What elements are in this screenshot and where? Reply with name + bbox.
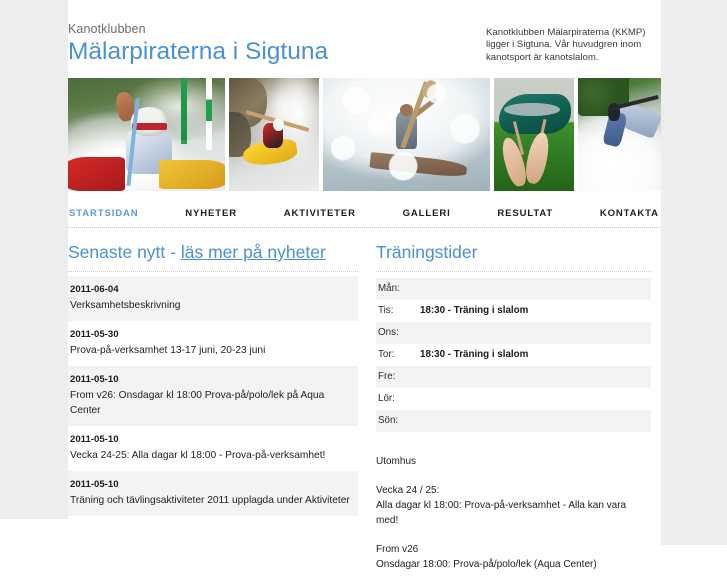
brand-subtitle: Kanotklubben	[68, 22, 328, 36]
news-list-item[interactable]: 2011-05-10 Vecka 24-25: Alla dagar kl 18…	[68, 426, 358, 471]
table-row: Mån:	[376, 278, 651, 300]
news-date: 2011-05-30	[70, 328, 352, 341]
table-row: Sön:	[376, 410, 651, 432]
training-day: Tis:	[376, 300, 418, 322]
news-title[interactable]: Verksamhetsbeskrivning	[70, 298, 352, 313]
news-list-item[interactable]: 2011-05-30 Prova-på-verksamhet 13-17 jun…	[68, 321, 358, 366]
news-list-item[interactable]: 2011-05-10 From v26: Onsdagar kl 18:00 P…	[68, 366, 358, 426]
training-value	[418, 388, 651, 410]
table-row: Ons:	[376, 322, 651, 344]
banner-photo-sprint-paddler	[323, 78, 490, 191]
banner-photo-strip	[68, 78, 661, 195]
training-value	[418, 410, 651, 432]
table-row: Lör:	[376, 388, 651, 410]
training-day: Fre:	[376, 366, 418, 388]
news-title[interactable]: Prova-på-verksamhet 13-17 juni, 20-23 ju…	[70, 343, 352, 358]
training-day: Lör:	[376, 388, 418, 410]
main-navigation: STARTSIDAN NYHETER AKTIVITETER GALLERI R…	[68, 200, 661, 228]
news-list: 2011-06-04 Verksamhetsbeskrivning 2011-0…	[68, 276, 358, 516]
site-brand[interactable]: Kanotklubben Mälarpiraterna i Sigtuna	[68, 22, 328, 67]
training-day: Tor:	[376, 344, 418, 366]
banner-photo-waterfall-drop	[578, 78, 661, 191]
news-date: 2011-05-10	[70, 433, 352, 446]
news-list-item[interactable]: 2011-05-10 Träning och tävlingsaktivitet…	[68, 471, 358, 516]
backdrop-right-gutter	[661, 0, 727, 545]
training-value: 18:30 - Träning i slalom	[418, 344, 651, 366]
nav-item-galleri[interactable]: GALLERI	[403, 208, 451, 219]
table-row: Tor: 18:30 - Träning i slalom	[376, 344, 651, 366]
content-columns: Senaste nytt - läs mer på nyheter 2011-0…	[68, 242, 661, 586]
training-value	[418, 278, 651, 300]
training-day: Mån:	[376, 278, 418, 300]
training-schedule-table: Mån: Tis: 18:30 - Träning i slalom Ons: …	[376, 278, 651, 432]
site-description: Kanotklubben Mälarpiraterna (KKMP) ligge…	[486, 27, 666, 64]
news-date: 2011-05-10	[70, 478, 352, 491]
outdoor-block2-line1: From v26	[376, 542, 651, 557]
outdoor-title: Utomhus	[376, 454, 651, 469]
outdoor-info: Utomhus Vecka 24 / 25: Alla dagar kl 18:…	[376, 454, 651, 572]
table-row: Tis: 18:30 - Träning i slalom	[376, 300, 651, 322]
nav-item-resultat[interactable]: RESULTAT	[497, 208, 553, 219]
news-heading-text: Senaste nytt -	[68, 242, 181, 262]
outdoor-block1-line1: Vecka 24 / 25:	[376, 483, 651, 498]
page-container: Kanotklubben Mälarpiraterna i Sigtuna Ka…	[68, 0, 661, 545]
training-value	[418, 366, 651, 388]
training-value	[418, 322, 651, 344]
news-title[interactable]: Vecka 24-25: Alla dagar kl 18:00 - Prova…	[70, 448, 352, 463]
brand-title: Mälarpiraterna i Sigtuna	[68, 37, 328, 67]
nav-item-aktiviteter[interactable]: AKTIVITETER	[284, 208, 356, 219]
table-row: Fre:	[376, 366, 651, 388]
training-column: Träningstider Mån: Tis: 18:30 - Träning …	[368, 242, 651, 586]
news-heading: Senaste nytt - läs mer på nyheter	[68, 242, 358, 272]
news-date: 2011-06-04	[70, 283, 352, 296]
training-day: Ons:	[376, 322, 418, 344]
nav-item-startsidan[interactable]: STARTSIDAN	[69, 208, 139, 219]
news-title[interactable]: Träning och tävlingsaktiviteter 2011 upp…	[70, 493, 352, 508]
training-heading: Träningstider	[376, 242, 651, 272]
banner-photo-yellow-kayak	[229, 78, 319, 191]
backdrop-bottom-left-white	[0, 519, 68, 545]
news-title[interactable]: From v26: Onsdagar kl 18:00 Prova-på/pol…	[70, 388, 352, 418]
nav-item-kontakta[interactable]: KONTAKTA	[600, 208, 659, 219]
training-value: 18:30 - Träning i slalom	[418, 300, 651, 322]
outdoor-block1-line2: Alla dagar kl 18:00: Prova-på-verksamhet…	[376, 498, 651, 528]
banner-photo-slalom-kayaker	[68, 78, 225, 191]
news-column: Senaste nytt - läs mer på nyheter 2011-0…	[68, 242, 368, 586]
banner-photo-canoe-and-paddles	[494, 78, 574, 191]
news-list-item[interactable]: 2011-06-04 Verksamhetsbeskrivning	[68, 276, 358, 321]
site-header: Kanotklubben Mälarpiraterna i Sigtuna Ka…	[68, 0, 661, 78]
nav-item-nyheter[interactable]: NYHETER	[185, 208, 237, 219]
news-more-link[interactable]: läs mer på nyheter	[181, 242, 326, 262]
outdoor-block2-line2: Onsdagar 18:00: Prova-på/polo/lek (Aqua …	[376, 557, 651, 572]
training-day: Sön:	[376, 410, 418, 432]
news-date: 2011-05-10	[70, 373, 352, 386]
